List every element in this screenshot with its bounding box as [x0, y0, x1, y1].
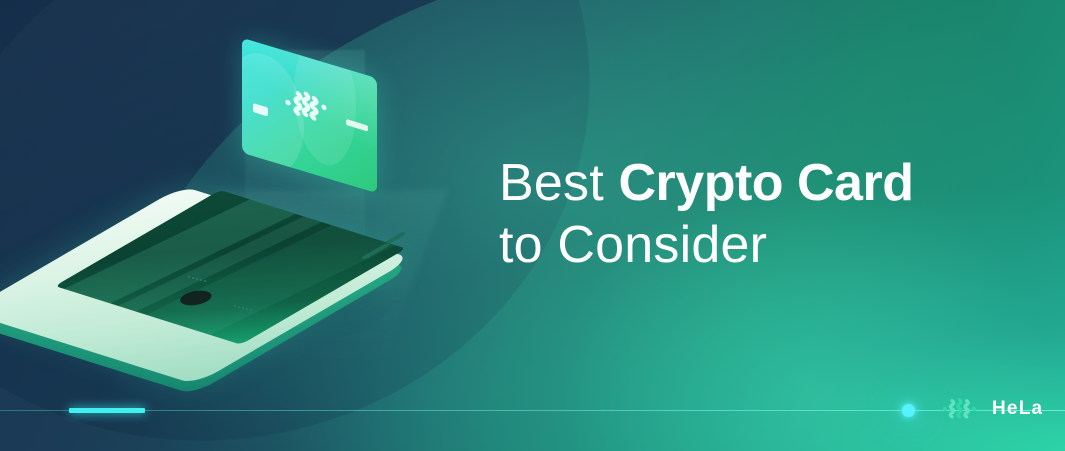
brand-logo[interactable]: HeLa	[942, 395, 1043, 423]
hero-banner: Best Crypto Card to Consider HeLa	[0, 0, 1065, 451]
card-face	[242, 38, 377, 194]
progress-glow-dot	[902, 404, 915, 417]
phone-speaker-grille	[188, 276, 190, 278]
phone-speaker-grille	[234, 305, 236, 307]
phone-speaker-grille	[200, 279, 202, 281]
crypto-card-illustration	[242, 58, 392, 218]
hero-illustration	[150, 40, 470, 350]
phone-speaker-grille	[242, 307, 244, 309]
progress-active-segment[interactable]	[69, 408, 145, 413]
title-light-part: Best	[499, 154, 619, 212]
title-bold-part: Crypto Card	[619, 154, 914, 212]
page-title: Best Crypto Card to Consider	[499, 152, 1019, 276]
phone-speaker-grille	[246, 308, 248, 310]
phone-speaker-grille	[196, 278, 198, 280]
title-line-2: to Consider	[499, 214, 1019, 276]
phone-speaker-grille	[250, 309, 252, 311]
phone-speaker-grille	[238, 306, 240, 308]
phone-speaker-grille	[204, 280, 206, 282]
brand-name: HeLa	[992, 398, 1043, 420]
title-line-1: Best Crypto Card	[499, 152, 1019, 214]
phone-speaker-grille	[192, 277, 194, 279]
hela-logo-mark-icon	[942, 398, 984, 420]
